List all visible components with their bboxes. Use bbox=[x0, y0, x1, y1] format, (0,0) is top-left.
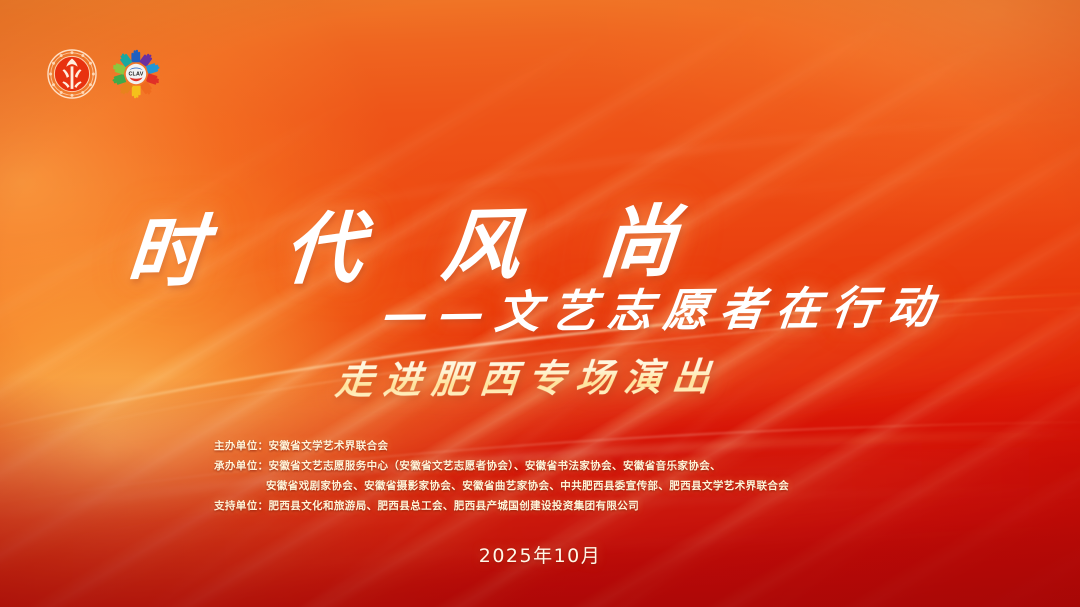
credit-line-supporter: 支持单位：肥西县文化和旅游局、肥西县总工会、肥西县产城国创建设投资集团有限公司 bbox=[214, 496, 789, 516]
credits-block: 主办单位：安徽省文学艺术界联合会 承办单位：安徽省文艺志愿服务中心（安徽省文艺志… bbox=[214, 436, 789, 516]
credit-line-host: 承办单位：安徽省文艺志愿服务中心（安徽省文艺志愿者协会）、安徽省书法家协会、安徽… bbox=[214, 456, 789, 476]
page-event-line: 走进肥西专场演出 bbox=[333, 346, 723, 405]
logo-group: CLAV bbox=[46, 48, 162, 100]
clav-volunteer-hands-emblem-icon: CLAV bbox=[110, 48, 162, 100]
poster-canvas: CLAV 时 代 风 尚 ——文艺志愿者在行动 走进肥西专场演出 主办单位：安徽… bbox=[0, 0, 1080, 607]
page-subtitle: ——文艺志愿者在行动 bbox=[380, 271, 948, 343]
credit-line-organizer: 主办单位：安徽省文学艺术界联合会 bbox=[214, 436, 789, 456]
china-federation-literary-art-circles-emblem-icon bbox=[46, 48, 98, 100]
credit-line-host-cont: 安徽省戏剧家协会、安徽省摄影家协会、安徽省曲艺家协会、中共肥西县委宣传部、肥西县… bbox=[214, 476, 789, 496]
event-date: 2025年10月 bbox=[0, 541, 1080, 568]
svg-text:CLAV: CLAV bbox=[128, 72, 143, 78]
